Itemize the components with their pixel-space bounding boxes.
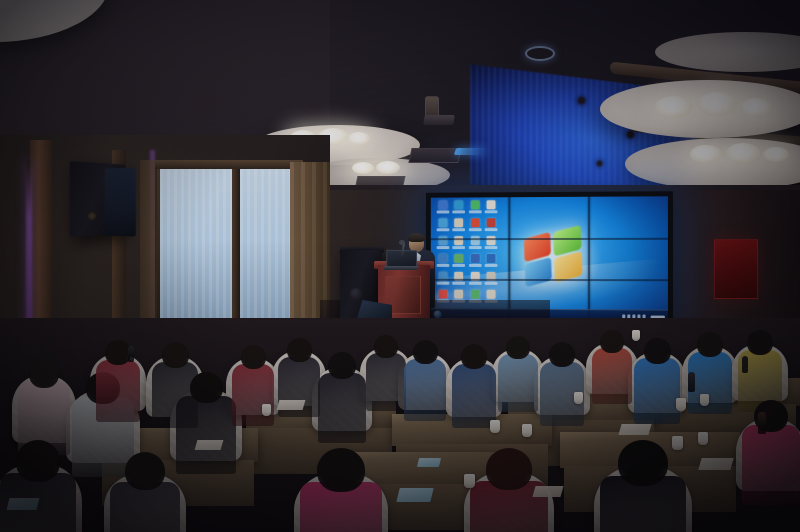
desktop-icon-glyph: [454, 290, 463, 299]
red-promotional-poster: [714, 239, 758, 299]
paper-cup: [672, 436, 683, 450]
loudspeaker-driver-icon: [350, 288, 362, 300]
ceiling-lamp: [655, 96, 693, 118]
desktop-icon-label: [436, 264, 449, 266]
desktop-icon-label: [485, 210, 498, 213]
desktop-icon-label: [436, 210, 449, 213]
desktop-icon-glyph: [487, 218, 496, 227]
attendee-head: [413, 340, 438, 364]
loudspeaker-driver-icon: [88, 212, 96, 220]
ceiling-lamp: [763, 147, 789, 162]
paper-cup: [574, 392, 583, 404]
desktop-icon[interactable]: [451, 200, 467, 217]
desktop-icon[interactable]: [467, 254, 483, 271]
laptop-base[interactable]: [383, 266, 418, 270]
desktop-icon-label: [485, 264, 498, 266]
recessed-ring-downlight-icon: [525, 46, 555, 61]
attendee-torso: [232, 364, 274, 426]
attendee-head: [125, 452, 165, 490]
desktop-icon-grid[interactable]: [435, 200, 500, 309]
ceiling-lamp: [352, 162, 374, 174]
desktop-icon[interactable]: [467, 200, 483, 217]
desktop-icon-label: [436, 228, 449, 231]
desktop-icon-label: [485, 228, 498, 231]
sheer-curtain-panel: [160, 168, 232, 334]
attendee-head: [486, 448, 532, 490]
attendee-head: [287, 338, 312, 362]
water-bottle: [742, 356, 748, 373]
desktop-icon[interactable]: [483, 218, 499, 235]
ceiling-lamp: [690, 145, 722, 163]
desktop-icon-glyph: [454, 218, 463, 227]
handout-page: [698, 458, 733, 470]
desktop-icon-glyph: [487, 290, 496, 299]
desktop-icon[interactable]: [483, 200, 499, 217]
attendee-torso: [498, 354, 538, 412]
desktop-icon-label: [436, 246, 449, 248]
microphone-icon: [399, 240, 405, 245]
paper-cup: [464, 474, 475, 488]
paper-cup: [700, 394, 709, 406]
desktop-icon-label: [469, 282, 482, 285]
desktop-icon-label: [453, 264, 466, 266]
desktop-icon-label: [453, 228, 466, 231]
attendee-head: [644, 338, 671, 364]
ceiling-lamp: [376, 161, 400, 174]
handout-page: [195, 440, 224, 450]
attendee-torso: [96, 360, 140, 422]
presenter-hair: [408, 233, 425, 242]
ceiling-spotlight: [596, 160, 603, 167]
desktop-icon[interactable]: [435, 218, 451, 235]
paper-cup: [262, 404, 271, 416]
notebook: [7, 498, 40, 510]
attendee-head: [697, 332, 723, 357]
handout-page: [618, 424, 651, 435]
handout-page: [532, 486, 563, 497]
wall-loudspeaker-face: [105, 167, 136, 236]
attendee-head: [618, 440, 668, 486]
attendee-head: [190, 372, 223, 403]
attendee-head: [374, 335, 398, 358]
attendee-torso: [318, 373, 366, 443]
desktop-icon-label: [485, 246, 498, 249]
desktop-icon-label: [485, 282, 498, 285]
attendee-head: [461, 344, 487, 369]
water-bottle: [758, 412, 766, 434]
desktop-icon-glyph: [487, 254, 496, 263]
attendee-torso: [404, 359, 446, 421]
attendee-head: [162, 342, 189, 368]
desktop-icon-glyph: [471, 254, 480, 263]
window-mullion: [232, 166, 240, 336]
desktop-icon-label: [469, 210, 482, 213]
paper-cup: [522, 424, 532, 437]
attendee-head: [549, 342, 575, 367]
desktop-icon-glyph: [471, 290, 480, 299]
attendee-head: [29, 358, 59, 388]
ceiling-spotlight: [577, 96, 586, 105]
attendee-torso: [366, 353, 406, 411]
desktop-icon-glyph: [454, 254, 463, 263]
paper-cup: [490, 420, 500, 433]
desktop-icon-glyph: [438, 254, 447, 263]
notebook: [417, 458, 441, 467]
desktop-icon[interactable]: [451, 254, 467, 271]
attendee-head: [328, 352, 356, 379]
handout-page: [277, 400, 306, 410]
desktop-icon[interactable]: [483, 254, 499, 271]
attendee-head: [506, 336, 530, 359]
ceiling-lamp: [697, 92, 737, 116]
desktop-icon-label: [469, 264, 482, 266]
sheer-curtain-panel: [240, 168, 296, 334]
desktop-icon-glyph: [454, 200, 463, 209]
attendee-torso: [176, 396, 236, 474]
paper-cup: [632, 330, 640, 341]
desktop-icon-label: [436, 282, 449, 285]
attendee-torso: [592, 348, 632, 404]
ceiling-lamp: [740, 98, 772, 117]
paper-cup: [698, 432, 708, 445]
desktop-icon-label: [453, 246, 466, 248]
attendee-head: [317, 448, 365, 492]
ceiling-projector: [423, 115, 455, 125]
desktop-icon-glyph: [438, 218, 447, 227]
desktop-icon[interactable]: [435, 201, 451, 218]
water-bottle: [688, 372, 695, 392]
desktop-icon-glyph: [471, 200, 480, 209]
attendee-head: [600, 330, 624, 353]
windows-logo-blue-pane: [525, 257, 552, 287]
desktop-icon-glyph: [471, 218, 480, 227]
panel-bezel-seam-vertical: [588, 197, 590, 320]
desktop-icon-label: [453, 210, 466, 213]
desktop-icon[interactable]: [435, 254, 451, 271]
conference-hall-photo: [0, 0, 800, 532]
ceiling-lamp: [348, 132, 370, 145]
water-bottle: [128, 346, 134, 362]
desktop-icon[interactable]: [467, 218, 483, 235]
attendee-torso: [452, 364, 496, 428]
projector-led-indicator: [454, 148, 487, 155]
attendee-torso: [634, 358, 680, 424]
desktop-icon-label: [469, 228, 482, 231]
ceiling-lamp: [726, 143, 760, 163]
notebook: [396, 488, 433, 502]
attendee-head: [747, 330, 773, 355]
desktop-icon-label: [453, 282, 466, 285]
attendee-head: [16, 440, 60, 482]
air-vent: [408, 148, 461, 163]
desktop-icon-label: [469, 246, 482, 248]
desktop-icon-glyph: [438, 290, 447, 299]
desktop-icon-glyph: [438, 201, 447, 210]
attendee-head: [241, 345, 266, 369]
desktop-icon[interactable]: [451, 218, 467, 235]
paper-cup: [676, 398, 686, 411]
desktop-icon-glyph: [487, 200, 496, 209]
panel-bezel-seam-horizontal: [431, 238, 668, 240]
window-header-trim: [155, 160, 303, 169]
attendee-torso: [742, 425, 800, 505]
